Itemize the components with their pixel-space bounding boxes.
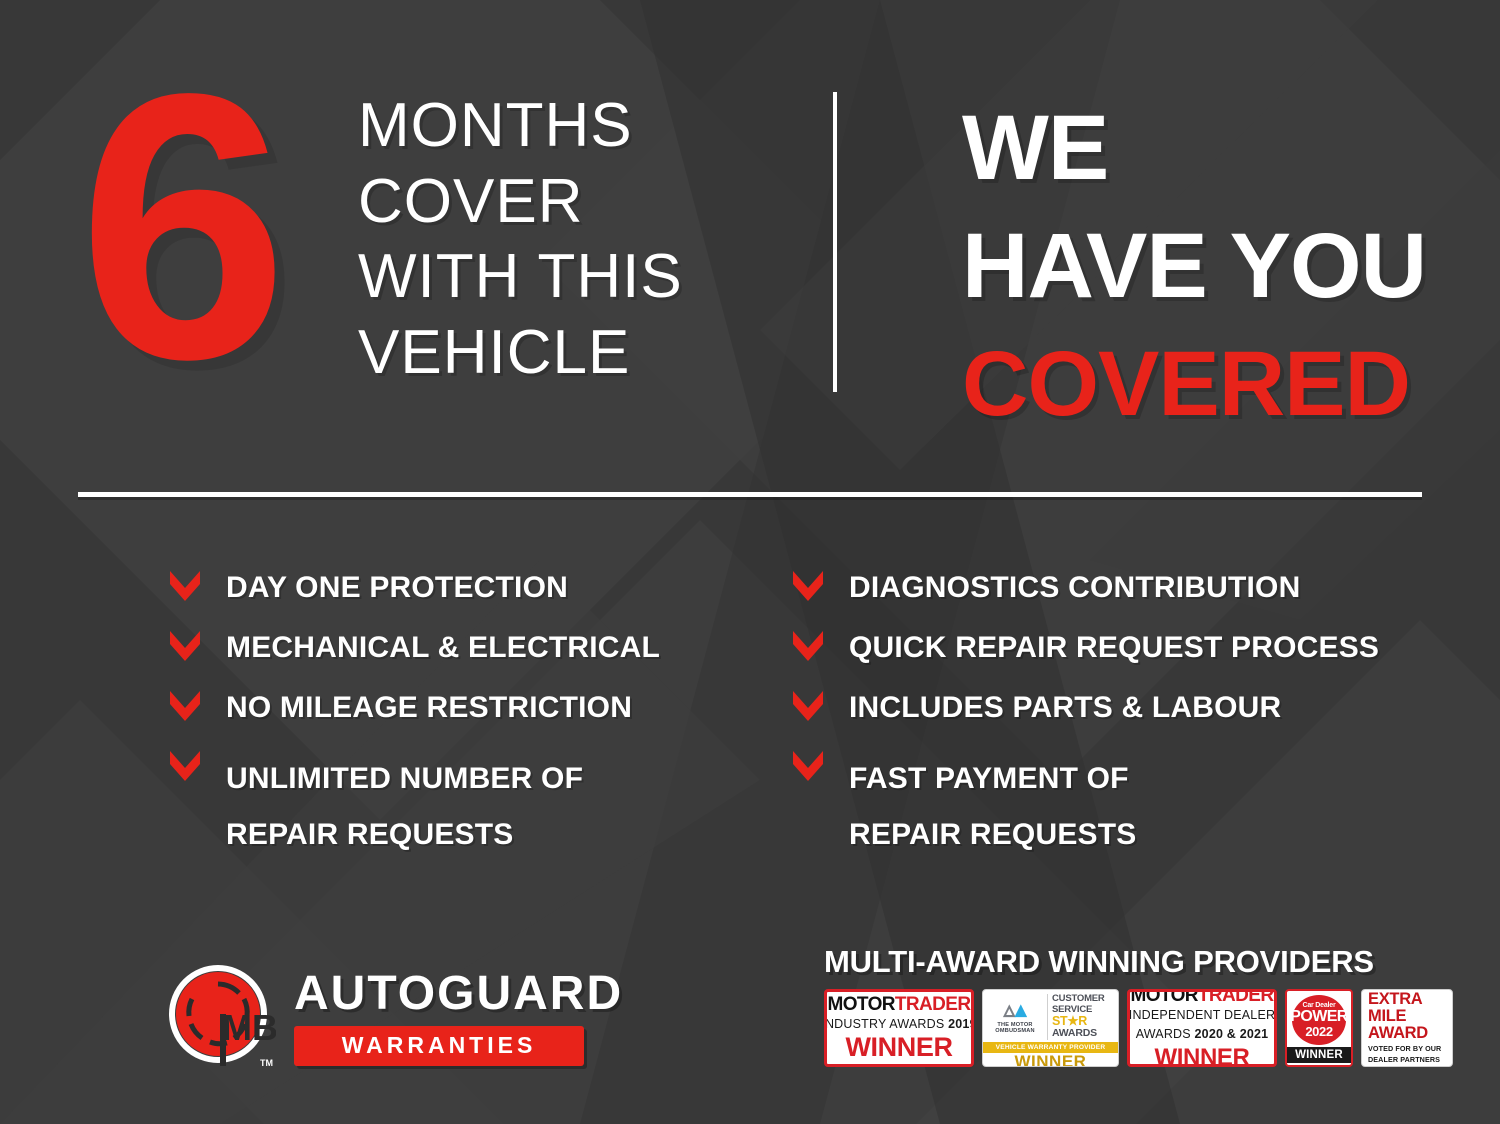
awards-section: MULTI-AWARD WINNING PROVIDERS MOTORTRADE…	[824, 944, 1453, 1067]
feature-item: DAY ONE PROTECTION	[170, 570, 810, 608]
badge-sub-line-2: DEALER PARTNERS	[1368, 1056, 1440, 1065]
feature-item: FAST PAYMENT OF REPAIR REQUESTS	[793, 750, 1453, 862]
left-headline-line-2: COVER	[358, 164, 683, 240]
award-badge-row: MOTORTRADER INDUSTRY AWARDS 2019 WINNER …	[824, 989, 1453, 1067]
features-right-column: DIAGNOSTICS CONTRIBUTION QUICK REPAIR RE…	[793, 570, 1453, 884]
left-headline: MONTHS COVER WITH THIS VEHICLE	[358, 88, 683, 391]
vertical-divider	[833, 92, 837, 392]
badge-year: 2019	[948, 1017, 974, 1031]
badge-winner-text: WINNER	[845, 1034, 952, 1061]
feature-label: UNLIMITED NUMBER OF REPAIR REQUESTS	[226, 750, 583, 862]
badge-line-2: MILE	[1368, 1008, 1406, 1025]
check-chevron-icon	[170, 571, 200, 605]
badge-logo-red: TRADER	[895, 994, 971, 1015]
badge-logo-red: TRADER	[1198, 989, 1274, 1006]
svg-text:TM: TM	[260, 1058, 273, 1068]
hero-section: 6 MONTHS COVER WITH THIS VEHICLE WE HAVE…	[0, 0, 1500, 500]
left-headline-line-4: VEHICLE	[358, 315, 683, 391]
badge-logo-dark: MOTOR	[828, 994, 895, 1015]
left-headline-line-1: MONTHS	[358, 88, 683, 164]
award-badge-motortrader-2019: MOTORTRADER INDUSTRY AWARDS 2019 WINNER	[824, 989, 974, 1067]
feature-item: QUICK REPAIR REQUEST PROCESS	[793, 630, 1453, 668]
star-awards-block: CUSTOMER SERVICE ST★R AWARDS	[1052, 994, 1114, 1040]
badge-subtitle: INDUSTRY AWARDS 2019	[824, 1017, 974, 1033]
feature-label: MECHANICAL & ELECTRICAL	[226, 630, 660, 665]
badge-winner-text: WINNER	[1155, 1046, 1250, 1067]
check-chevron-icon	[793, 571, 823, 605]
right-headline-accent: COVERED	[962, 326, 1426, 444]
mbi-mark-icon: MBi TM	[168, 962, 276, 1074]
award-badge-motor-ombudsman: ▵▴ THE MOTOR OMBUDSMAN CUSTOMER SERVICE …	[982, 989, 1119, 1067]
brand-title: AUTOGUARD	[294, 970, 584, 1018]
feature-label: QUICK REPAIR REQUEST PROCESS	[849, 630, 1379, 665]
badge-year-line: AWARDS 2020 & 2021	[1136, 1027, 1269, 1043]
badge-awards-word: AWARDS	[1136, 1027, 1191, 1041]
promo-banner: 6 MONTHS COVER WITH THIS VEHICLE WE HAVE…	[0, 0, 1500, 1124]
badge-medallion: Car Dealer POWER 2022	[1292, 995, 1346, 1045]
features-left-column: DAY ONE PROTECTION MECHANICAL & ELECTRIC…	[170, 570, 810, 884]
award-badge-car-dealer-power-2022: Car Dealer POWER 2022 WINNER	[1285, 989, 1353, 1067]
check-chevron-icon	[793, 691, 823, 725]
award-line-4: AWARDS	[1052, 1028, 1114, 1040]
badge-award-name: POWER	[1290, 1009, 1347, 1024]
feature-item: MECHANICAL & ELECTRICAL	[170, 630, 810, 668]
right-headline-line-1: WE	[962, 90, 1426, 208]
check-chevron-icon	[170, 751, 200, 785]
left-headline-line-3: WITH THIS	[358, 239, 683, 315]
badge-logo: MOTORTRADER	[1131, 989, 1274, 1005]
horizontal-divider	[78, 492, 1422, 497]
check-chevron-icon	[793, 631, 823, 665]
check-chevron-icon	[170, 631, 200, 665]
badge-logo-dark: MOTOR	[1131, 989, 1198, 1006]
badge-award-name: INDUSTRY AWARDS	[824, 1017, 944, 1031]
right-headline-line-2: HAVE YOU	[962, 208, 1426, 326]
award-badge-motortrader-2020-2021: MOTORTRADER INDEPENDENT DEALER AWARDS 20…	[1127, 989, 1277, 1067]
feature-item: INCLUDES PARTS & LABOUR	[793, 690, 1453, 728]
badge-top-row: ▵▴ THE MOTOR OMBUDSMAN CUSTOMER SERVICE …	[983, 990, 1118, 1042]
feature-label: INCLUDES PARTS & LABOUR	[849, 690, 1281, 725]
badge-line-1: EXTRA	[1368, 991, 1422, 1008]
check-chevron-icon	[793, 751, 823, 785]
ombudsman-name: THE MOTOR OMBUDSMAN	[987, 1022, 1043, 1035]
feature-label: NO MILEAGE RESTRICTION	[226, 690, 632, 725]
badge-line-3: AWARD	[1368, 1025, 1428, 1042]
badge-subtitle: INDEPENDENT DEALER	[1129, 1008, 1275, 1024]
badge-logo: MOTORTRADER	[828, 995, 971, 1014]
cover-duration-number: 6	[78, 48, 274, 407]
brand-subtitle: WARRANTIES	[294, 1026, 584, 1066]
feature-item: DIAGNOSTICS CONTRIBUTION	[793, 570, 1453, 608]
badge-winner-text: WINNER	[983, 1053, 1118, 1067]
badge-year: 2022	[1305, 1025, 1332, 1038]
feature-label: FAST PAYMENT OF REPAIR REQUESTS	[849, 750, 1137, 862]
badge-divider	[1047, 994, 1048, 1040]
svg-text:MBi: MBi	[222, 1007, 276, 1048]
autoguard-logo: MBi TM AUTOGUARD WARRANTIES	[168, 962, 584, 1074]
feature-item: UNLIMITED NUMBER OF REPAIR REQUESTS	[170, 750, 810, 862]
feature-item: NO MILEAGE RESTRICTION	[170, 690, 810, 728]
right-headline: WE HAVE YOU COVERED	[962, 90, 1426, 443]
ombudsman-logo: ▵▴ THE MOTOR OMBUDSMAN	[987, 999, 1043, 1035]
ombudsman-mark-icon: ▵▴	[987, 999, 1043, 1020]
badge-year: 2020 & 2021	[1195, 1027, 1269, 1041]
feature-label: DAY ONE PROTECTION	[226, 570, 568, 605]
autoguard-wordmark: AUTOGUARD WARRANTIES	[294, 970, 584, 1066]
badge-sub-line-1: VOTED FOR BY OUR	[1368, 1045, 1441, 1054]
awards-title: MULTI-AWARD WINNING PROVIDERS	[824, 944, 1453, 980]
check-chevron-icon	[170, 691, 200, 725]
feature-label: DIAGNOSTICS CONTRIBUTION	[849, 570, 1300, 605]
badge-winner-text: WINNER	[1286, 1047, 1352, 1063]
award-badge-extra-mile: EXTRA MILE AWARD VOTED FOR BY OUR DEALER…	[1361, 989, 1453, 1067]
